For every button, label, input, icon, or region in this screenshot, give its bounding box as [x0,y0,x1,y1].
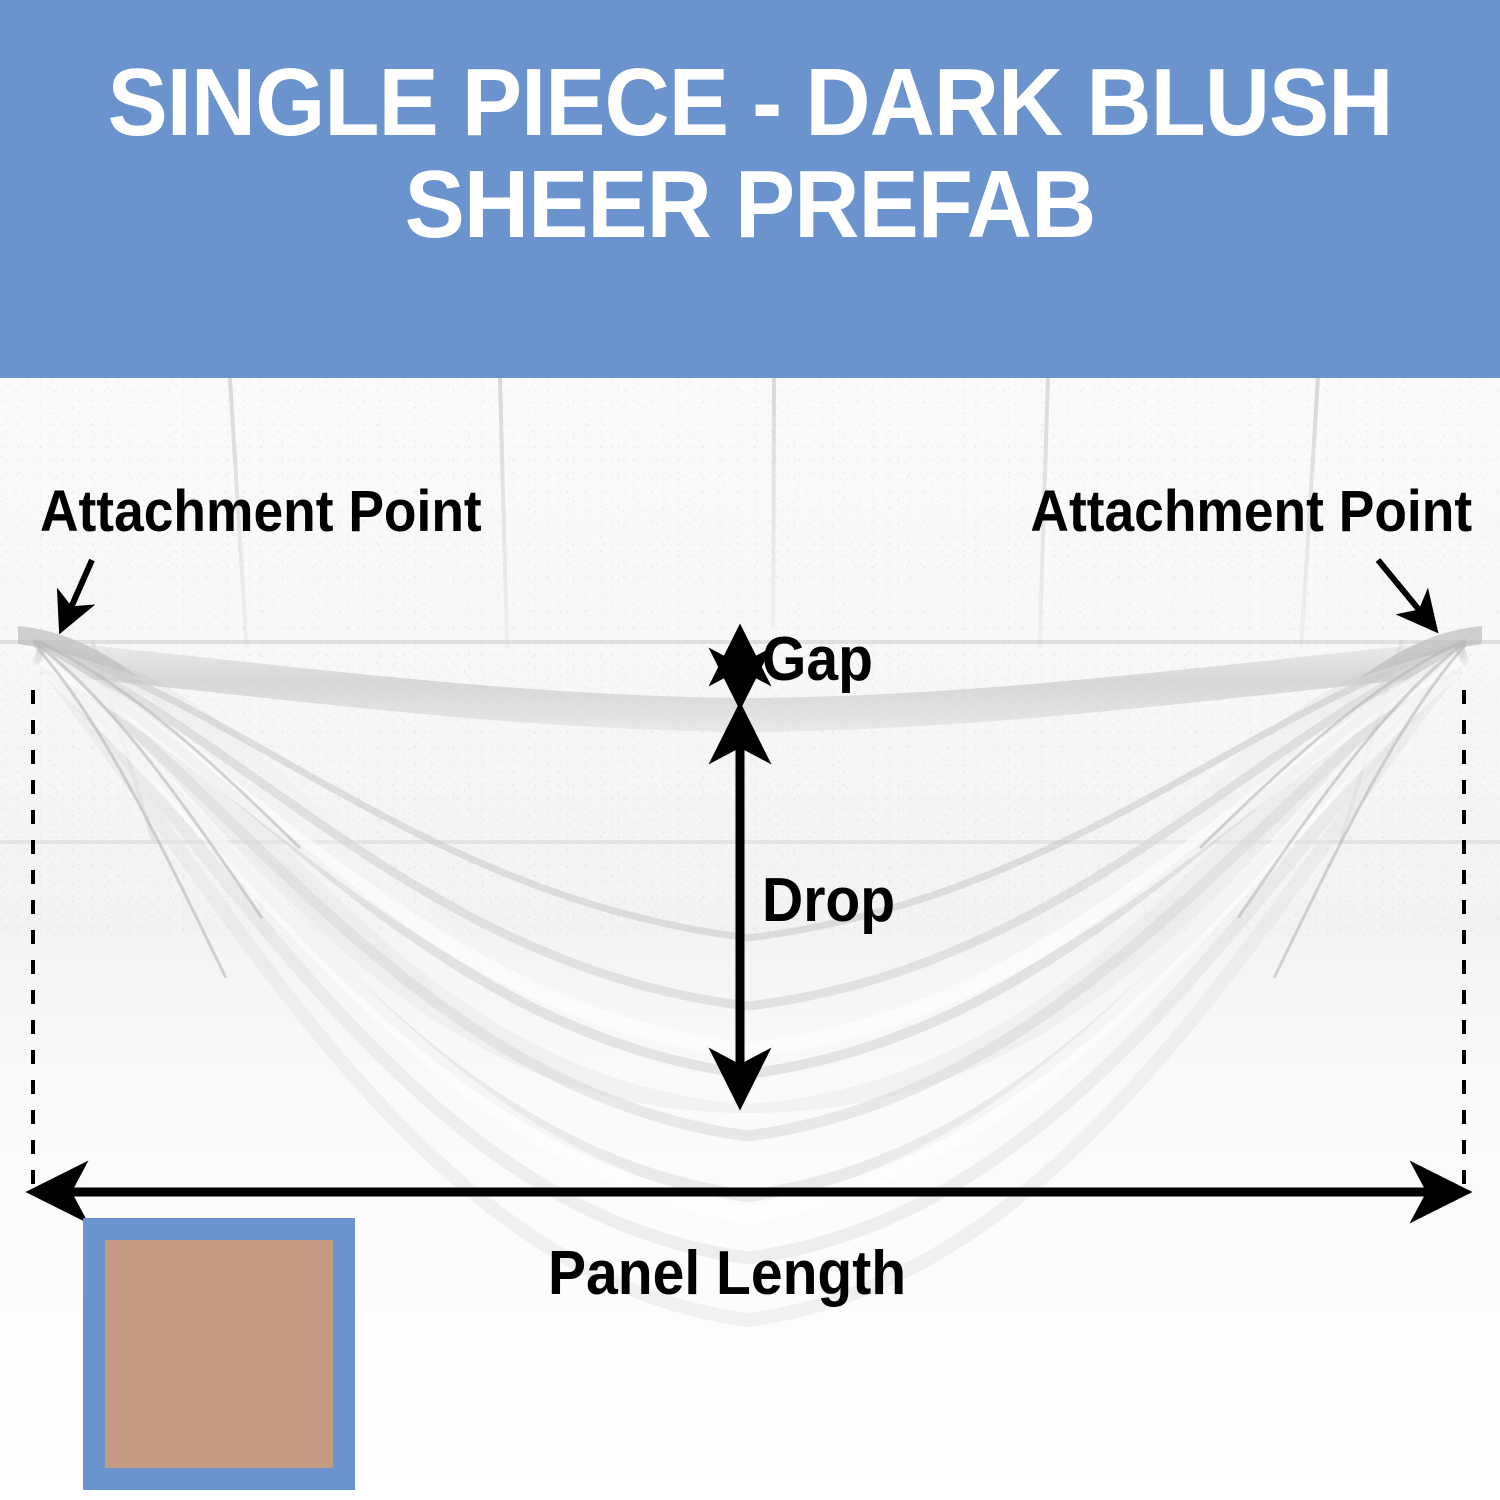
color-swatch-fill [105,1240,333,1468]
label-drop: Drop [762,865,895,936]
label-attachment-point-right: Attachment Point [1030,478,1472,545]
label-gap: Gap [762,624,873,695]
label-panel-length: Panel Length [548,1238,906,1309]
product-diagram-image: SINGLE PIECE - DARK BLUSH SHEER PREFAB [0,0,1500,1500]
label-attachment-point-left: Attachment Point [40,478,482,545]
header-banner: SINGLE PIECE - DARK BLUSH SHEER PREFAB [0,0,1500,378]
color-swatch [83,1218,355,1490]
page-title: SINGLE PIECE - DARK BLUSH SHEER PREFAB [83,52,1418,256]
